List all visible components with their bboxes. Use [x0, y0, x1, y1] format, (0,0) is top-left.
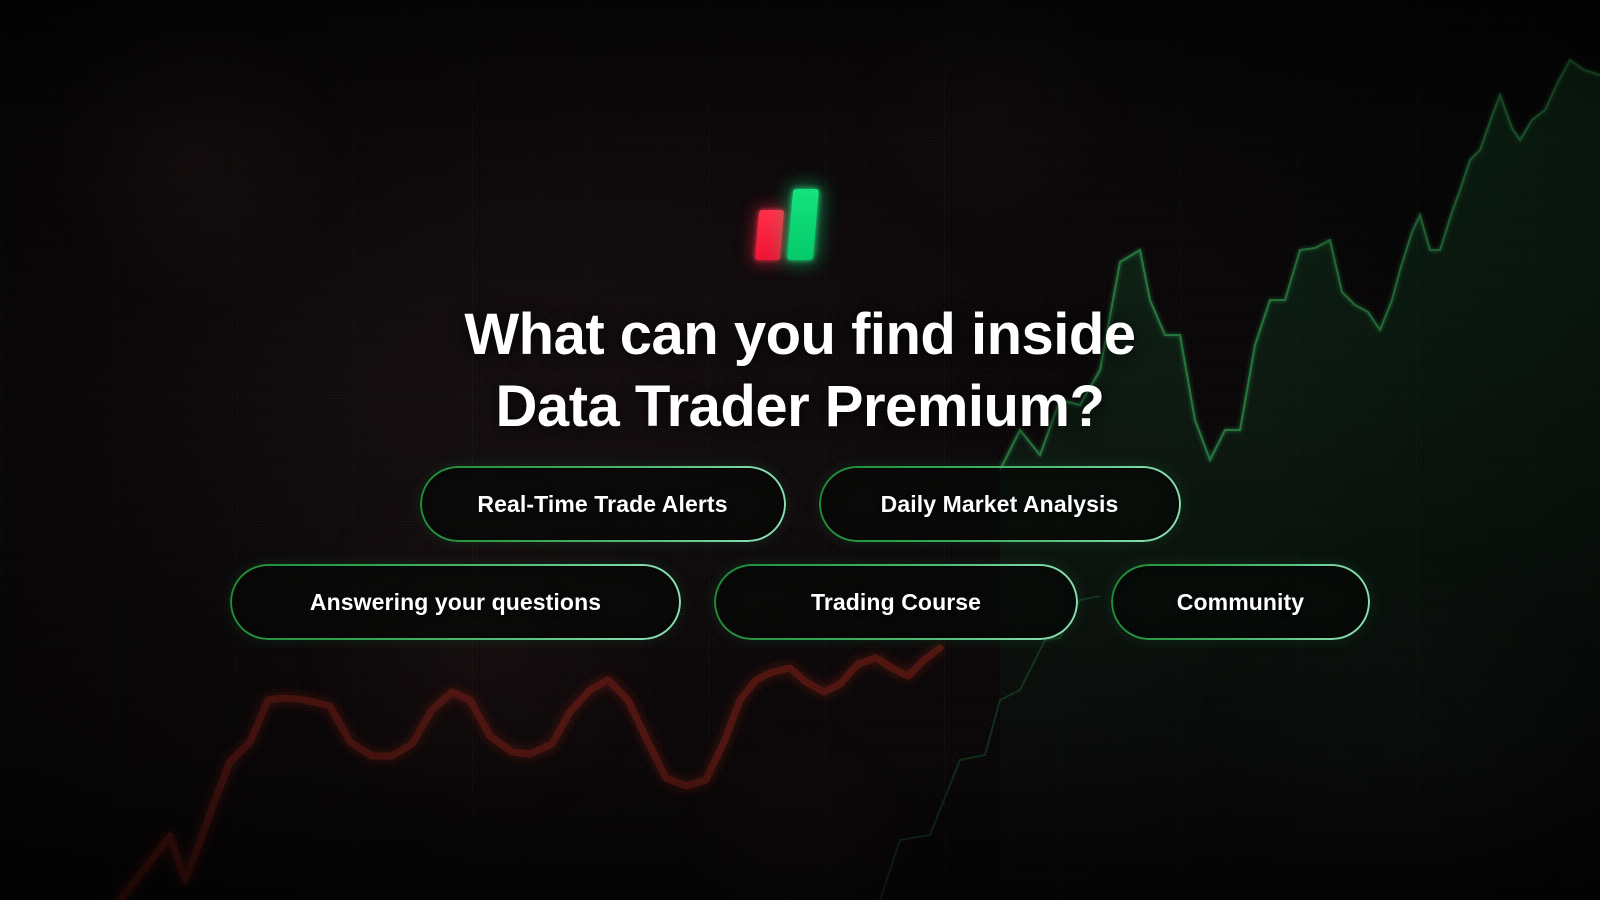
- promo-slide: What can you find inside Data Trader Pre…: [0, 0, 1600, 900]
- feature-pill-label: Daily Market Analysis: [881, 491, 1119, 518]
- feature-pill-row-1: Real-Time Trade Alerts Daily Market Anal…: [0, 466, 1600, 542]
- feature-pill-answering-your-questions[interactable]: Answering your questions: [230, 564, 681, 640]
- red-candle-bar-icon: [755, 210, 784, 260]
- feature-pill-daily-market-analysis[interactable]: Daily Market Analysis: [819, 466, 1181, 542]
- feature-pill-real-time-trade-alerts[interactable]: Real-Time Trade Alerts: [420, 466, 786, 542]
- headline-line-2: Data Trader Premium?: [0, 378, 1600, 436]
- feature-pill-label: Real-Time Trade Alerts: [477, 491, 727, 518]
- feature-pill-label: Community: [1177, 589, 1304, 616]
- feature-pill-trading-course[interactable]: Trading Course: [714, 564, 1078, 640]
- page-title: What can you find inside Data Trader Pre…: [0, 306, 1600, 436]
- feature-pill-group: Real-Time Trade Alerts Daily Market Anal…: [0, 466, 1600, 640]
- feature-pill-label: Trading Course: [811, 589, 981, 616]
- headline-line-1: What can you find inside: [0, 306, 1600, 364]
- slide-content: What can you find inside Data Trader Pre…: [0, 0, 1600, 900]
- data-trader-candlestick-logo: [752, 185, 828, 263]
- green-candle-bar-icon: [787, 189, 819, 260]
- feature-pill-row-2: Answering your questions Trading Course …: [0, 564, 1600, 640]
- feature-pill-community[interactable]: Community: [1111, 564, 1370, 640]
- feature-pill-label: Answering your questions: [310, 589, 601, 616]
